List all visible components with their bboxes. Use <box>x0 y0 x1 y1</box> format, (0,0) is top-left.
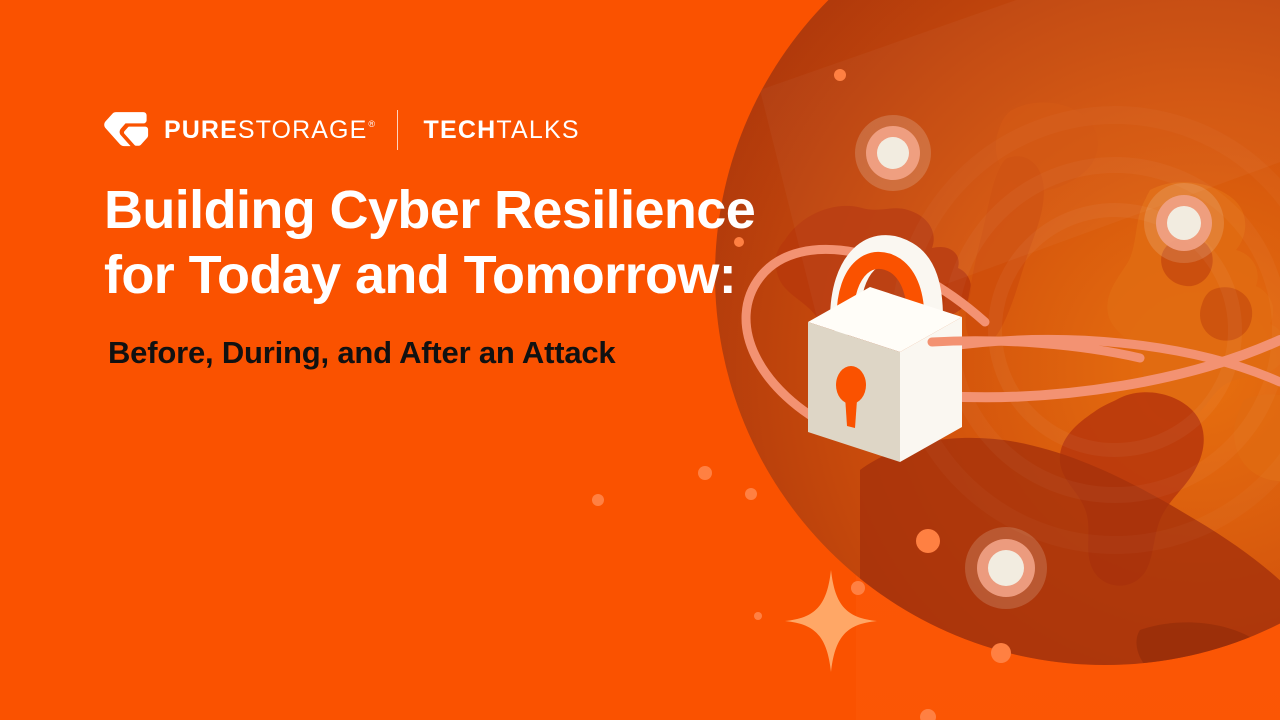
wordmark-tech: TECH <box>424 118 497 143</box>
wordmark-storage: STORAGE <box>238 118 368 143</box>
orbit-ring-lower <box>940 340 1280 402</box>
padlock-shackle-front <box>845 260 916 320</box>
globe-sphere <box>715 0 1280 665</box>
pure-storage-p-mark-icon <box>104 109 150 151</box>
page-subtitle: Before, During, and After an Attack <box>108 333 615 373</box>
background-panel <box>856 0 1280 720</box>
sparkle-glyph <box>785 570 877 672</box>
wordmark-pure: PURE <box>164 118 238 143</box>
padlock-left-face <box>808 322 900 462</box>
globe <box>715 0 1280 694</box>
decorative-dots <box>592 69 1011 720</box>
orbit-ring-right <box>944 340 1280 500</box>
tech-talks-wordmark: TECHTALKS <box>424 118 580 143</box>
padlock-top-face <box>808 287 962 352</box>
padlock-right-face <box>900 317 962 462</box>
pure-storage-wordmark: PURESTORAGE® <box>164 118 375 143</box>
page-title: Building Cyber Resilience for Today and … <box>104 178 804 308</box>
headline-line-2: for Today and Tomorrow: <box>104 243 804 308</box>
sparkle-star <box>785 570 877 672</box>
location-pin-south-atlantic <box>965 527 1047 609</box>
brand-lockup: PURESTORAGE® TECHTALKS <box>104 108 580 152</box>
globe-continents <box>715 0 1280 694</box>
padlock-shackle-back <box>845 250 928 320</box>
location-pin-europe <box>1144 183 1224 263</box>
headline-line-1: Building Cyber Resilience <box>104 178 804 243</box>
wordmark-talks: TALKS <box>496 118 579 143</box>
orbit-ring-front <box>932 341 1150 391</box>
location-pin-north-america <box>855 115 931 191</box>
webinar-title-card: PURESTORAGE® TECHTALKS Building Cyber Re… <box>0 0 1280 720</box>
padlock-keyhole <box>836 366 866 428</box>
isometric-cube-padlock <box>808 250 962 462</box>
brand-divider <box>397 110 398 150</box>
registered-trademark-symbol: ® <box>368 120 375 129</box>
